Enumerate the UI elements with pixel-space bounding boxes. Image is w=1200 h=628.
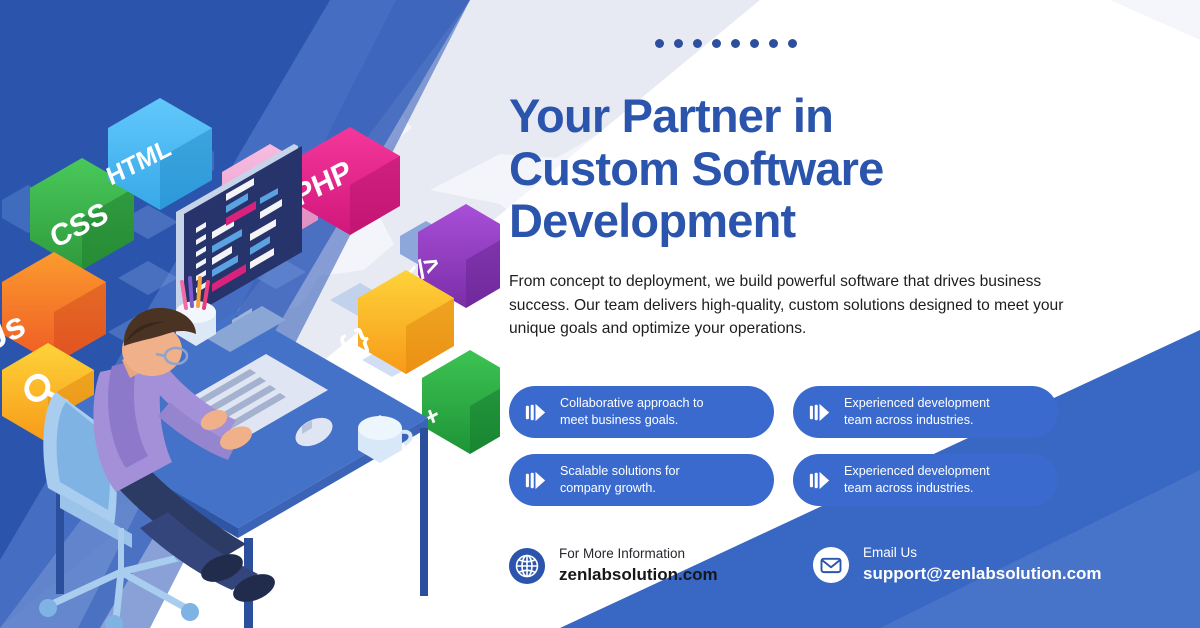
feature-pill[interactable]: Experienced development team across indu… xyxy=(793,386,1058,438)
headline-line-1: Your Partner in xyxy=(509,89,833,142)
pill-line-2: team across industries. xyxy=(844,413,974,427)
pill-line-2: team across industries. xyxy=(844,481,974,495)
feature-pill-text: Experienced development team across indu… xyxy=(844,395,990,428)
envelope-icon xyxy=(812,546,850,584)
arrow-forward-icon xyxy=(522,399,549,426)
pill-line-1: Experienced development xyxy=(844,396,990,410)
footer-website-value[interactable]: zenlabsolution.com xyxy=(559,564,718,586)
feature-pill[interactable]: Collaborative approach to meet business … xyxy=(509,386,774,438)
pill-line-2: company growth. xyxy=(560,481,656,495)
feature-pill-text: Collaborative approach to meet business … xyxy=(560,395,704,428)
marketing-banner: CSS HTML Js PHP xyxy=(0,0,1200,628)
developer-illustration: CSS HTML Js PHP xyxy=(0,60,500,628)
page-title: Your Partner in Custom Software Developm… xyxy=(509,90,1109,248)
dot xyxy=(655,39,664,48)
footer-website-block[interactable]: For More Information zenlabsolution.com xyxy=(508,546,718,586)
feature-pill-grid: Collaborative approach to meet business … xyxy=(509,386,1069,506)
footer-website-text: For More Information zenlabsolution.com xyxy=(559,546,718,586)
dot xyxy=(788,39,797,48)
hero-subcopy: From concept to deployment, we build pow… xyxy=(509,270,1089,341)
dot xyxy=(769,39,778,48)
footer-email-value[interactable]: support@zenlabsolution.com xyxy=(863,563,1102,585)
headline-line-2: Custom Software xyxy=(509,142,884,195)
pill-line-1: Collaborative approach to xyxy=(560,396,704,410)
footer-email-label: Email Us xyxy=(863,545,1102,562)
arrow-forward-icon xyxy=(806,467,833,494)
dot xyxy=(731,39,740,48)
arrow-forward-icon xyxy=(806,399,833,426)
globe-icon xyxy=(508,547,546,585)
arrow-forward-icon xyxy=(522,467,549,494)
pill-line-1: Experienced development xyxy=(844,464,990,478)
headline-line-3: Development xyxy=(509,194,795,247)
hero-content: Your Partner in Custom Software Developm… xyxy=(509,90,1109,341)
dot xyxy=(712,39,721,48)
feature-pill-text: Scalable solutions for company growth. xyxy=(560,463,680,496)
dot xyxy=(693,39,702,48)
footer-email-text: Email Us support@zenlabsolution.com xyxy=(863,545,1102,585)
pill-line-1: Scalable solutions for xyxy=(560,464,680,478)
footer-website-label: For More Information xyxy=(559,546,718,563)
pill-line-2: meet business goals. xyxy=(560,413,678,427)
feature-pill[interactable]: Experienced development team across indu… xyxy=(793,454,1058,506)
dot xyxy=(750,39,759,48)
footer-email-block[interactable]: Email Us support@zenlabsolution.com xyxy=(812,545,1102,585)
feature-pill[interactable]: Scalable solutions for company growth. xyxy=(509,454,774,506)
feature-pill-text: Experienced development team across indu… xyxy=(844,463,990,496)
decorative-dot-row xyxy=(655,39,797,48)
dot xyxy=(674,39,683,48)
